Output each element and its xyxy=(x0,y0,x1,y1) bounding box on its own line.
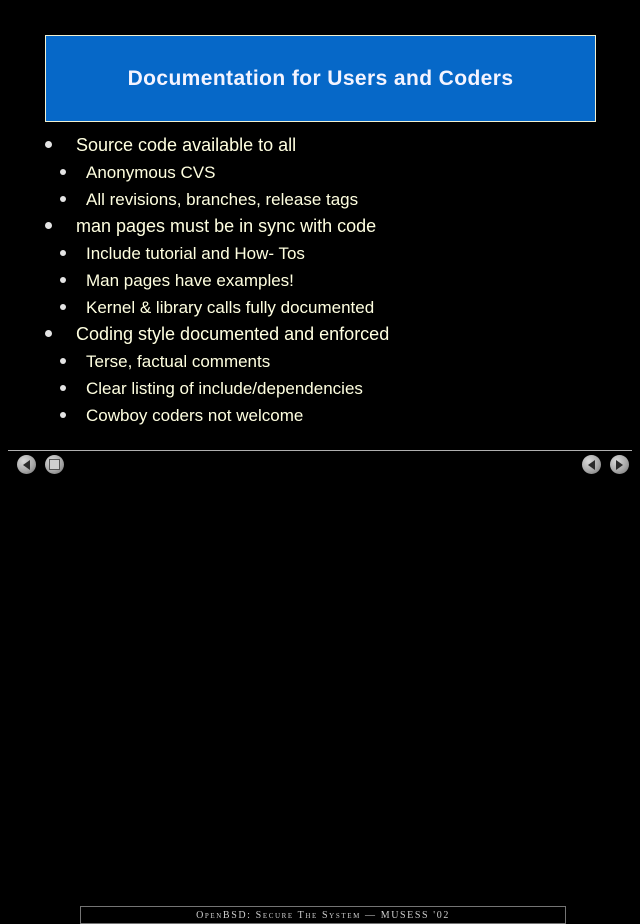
square-stop-icon xyxy=(49,459,60,470)
bullet-dot-icon xyxy=(60,385,66,391)
bullet-dot-icon xyxy=(60,277,66,283)
bullet-dot-icon xyxy=(60,250,66,256)
bullet-dot-icon xyxy=(60,304,66,310)
list-item: Clear listing of include/dependencies xyxy=(0,375,640,402)
footer-divider xyxy=(8,450,632,451)
list-item: Man pages have examples! xyxy=(0,267,640,294)
list-item-label: man pages must be in sync with code xyxy=(76,213,376,240)
list-item: Kernel & library calls fully documented xyxy=(0,294,640,321)
list-item-label: Coding style documented and enforced xyxy=(76,321,389,348)
list-item-label: Cowboy coders not welcome xyxy=(86,402,303,429)
previous-slide-button[interactable] xyxy=(582,455,601,474)
list-item: Cowboy coders not welcome xyxy=(0,402,640,429)
bullet-dot-icon xyxy=(45,330,52,337)
bullet-list: Source code available to all Anonymous C… xyxy=(0,132,640,429)
bullet-dot-icon xyxy=(60,196,66,202)
bullet-dot-icon xyxy=(60,412,66,418)
list-item-label: Anonymous CVS xyxy=(86,159,215,186)
next-slide-button[interactable] xyxy=(610,455,629,474)
list-item-label: Kernel & library calls fully documented xyxy=(86,294,374,321)
triangle-left-icon xyxy=(23,460,30,470)
bullet-dot-icon xyxy=(45,141,52,148)
list-item: Source code available to all xyxy=(0,132,640,159)
list-item: Anonymous CVS xyxy=(0,159,640,186)
footer-caption: OpenBSD: Secure The System — MUSESS '02 xyxy=(196,910,450,921)
slide-title-banner: Documentation for Users and Coders xyxy=(45,35,596,122)
list-item-label: Man pages have examples! xyxy=(86,267,294,294)
footer-toolbar: OpenBSD: Secure The System — MUSESS '02 xyxy=(0,452,640,480)
bullet-dot-icon xyxy=(60,358,66,364)
list-item-label: Source code available to all xyxy=(76,132,296,159)
slide-title: Documentation for Users and Coders xyxy=(128,67,514,91)
list-item: Include tutorial and How- Tos xyxy=(0,240,640,267)
footer-caption-box: OpenBSD: Secure The System — MUSESS '02 xyxy=(80,906,566,924)
list-item: man pages must be in sync with code xyxy=(0,213,640,240)
first-slide-button[interactable] xyxy=(17,455,36,474)
bullet-dot-icon xyxy=(45,222,52,229)
triangle-right-icon xyxy=(616,460,623,470)
stop-button[interactable] xyxy=(45,455,64,474)
list-item-label: Clear listing of include/dependencies xyxy=(86,375,363,402)
triangle-left-icon xyxy=(588,460,595,470)
list-item: Coding style documented and enforced xyxy=(0,321,640,348)
list-item: All revisions, branches, release tags xyxy=(0,186,640,213)
list-item-label: All revisions, branches, release tags xyxy=(86,186,358,213)
list-item-label: Terse, factual comments xyxy=(86,348,270,375)
list-item: Terse, factual comments xyxy=(0,348,640,375)
bullet-dot-icon xyxy=(60,169,66,175)
list-item-label: Include tutorial and How- Tos xyxy=(86,240,305,267)
presentation-slide: Documentation for Users and Coders Sourc… xyxy=(0,0,640,480)
